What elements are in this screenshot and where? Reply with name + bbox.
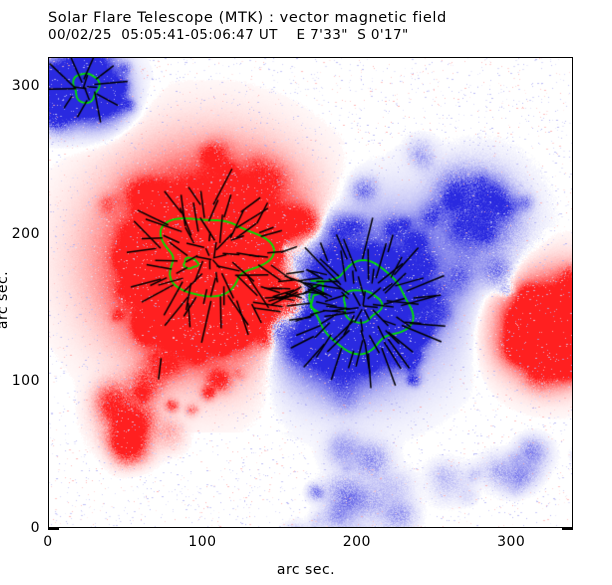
y-tick-label: 0 bbox=[4, 520, 40, 536]
plot-title: Solar Flare Telescope (MTK) : vector mag… bbox=[48, 10, 588, 27]
y-tick-label: 100 bbox=[4, 373, 40, 389]
plot-title-block: Solar Flare Telescope (MTK) : vector mag… bbox=[48, 10, 588, 44]
x-axis-label: arc sec. bbox=[0, 562, 612, 578]
vector-field-overlay bbox=[49, 58, 572, 527]
x-tick-label: 300 bbox=[497, 534, 525, 550]
y-axis-label: arc sec. bbox=[0, 271, 11, 329]
y-tick-right bbox=[562, 528, 573, 530]
y-tick-left bbox=[48, 528, 59, 530]
y-tick-label: 300 bbox=[4, 78, 40, 94]
x-tick-label: 0 bbox=[43, 534, 52, 550]
x-tick-label: 100 bbox=[188, 534, 216, 550]
plot-subtitle-timestamp: 00/02/25 05:05:41-05:06:47 UT E 7'33" S … bbox=[48, 27, 588, 44]
y-tick-label: 200 bbox=[4, 226, 40, 242]
x-tick-label: 200 bbox=[343, 534, 371, 550]
magnetogram-plot-area bbox=[48, 57, 573, 528]
